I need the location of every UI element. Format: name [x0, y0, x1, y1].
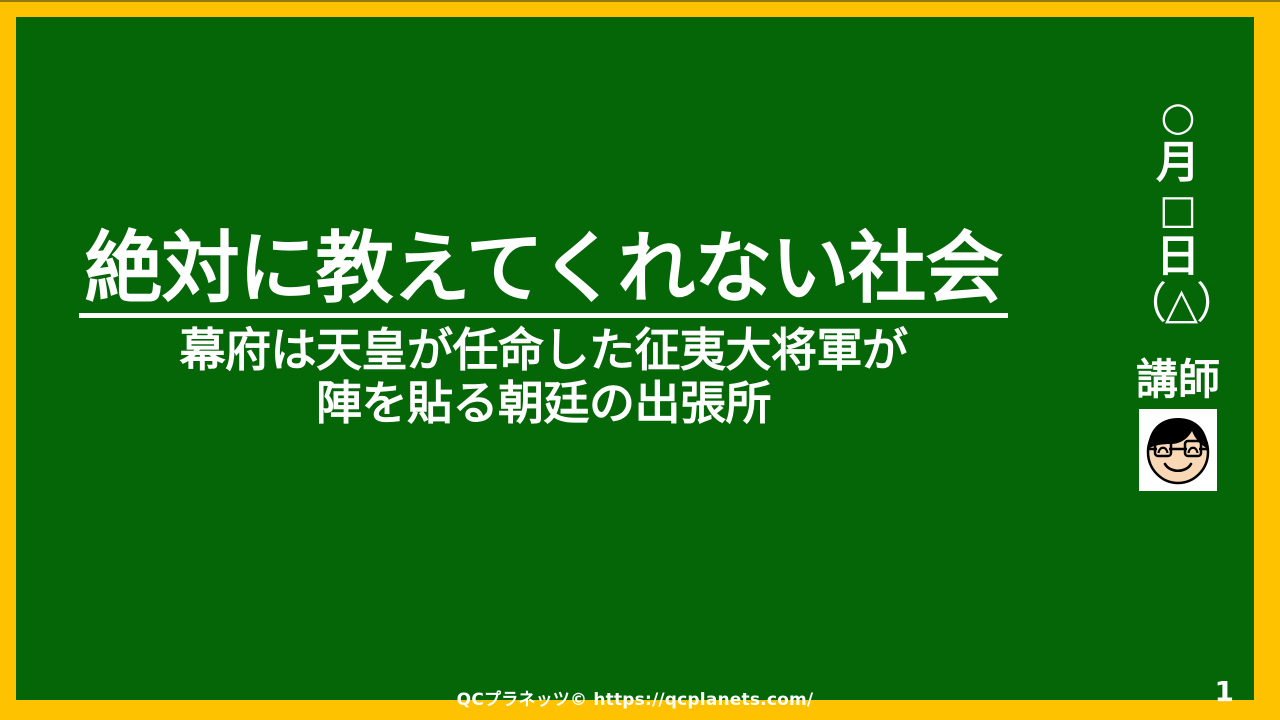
slide-root: 絶対に教えてくれない社会 幕府は天皇が任命した征夷大将軍が 陣を貼る朝廷の出張所…	[0, 0, 1280, 720]
page-number: 1	[1215, 678, 1234, 706]
sidebar: ○ 月 □ 日 （△） 講師	[1124, 95, 1232, 491]
page-title: 絶対に教えてくれない社会	[79, 232, 1009, 318]
avatar	[1139, 409, 1217, 491]
subtitle: 幕府は天皇が任命した征夷大将軍が 陣を貼る朝廷の出張所	[16, 324, 1071, 431]
date-stack: ○ 月 □ 日 （△）	[1124, 95, 1232, 329]
subtitle-line-1: 幕府は天皇が任命した征夷大将軍が	[16, 324, 1071, 377]
teacher-face-icon	[1139, 409, 1217, 491]
subtitle-line-2: 陣を貼る朝廷の出張所	[16, 377, 1071, 430]
date-placeholder-weekday-triangle: （△）	[1124, 281, 1232, 329]
footer-credit: QCプラネッツ© https://qcplanets.com/	[16, 685, 1254, 710]
date-label-month: 月	[1124, 139, 1232, 188]
frame-top-hairline	[0, 0, 1280, 2]
lecturer-label: 講師	[1124, 359, 1232, 401]
date-placeholder-month-circle: ○	[1124, 95, 1232, 139]
date-label-day: 日	[1124, 233, 1232, 282]
title-block: 絶対に教えてくれない社会 幕府は天皇が任命した征夷大将軍が 陣を貼る朝廷の出張所	[16, 232, 1071, 431]
slide-board: 絶対に教えてくれない社会 幕府は天皇が任命した征夷大将軍が 陣を貼る朝廷の出張所…	[16, 17, 1254, 700]
date-placeholder-day-square: □	[1124, 188, 1232, 232]
